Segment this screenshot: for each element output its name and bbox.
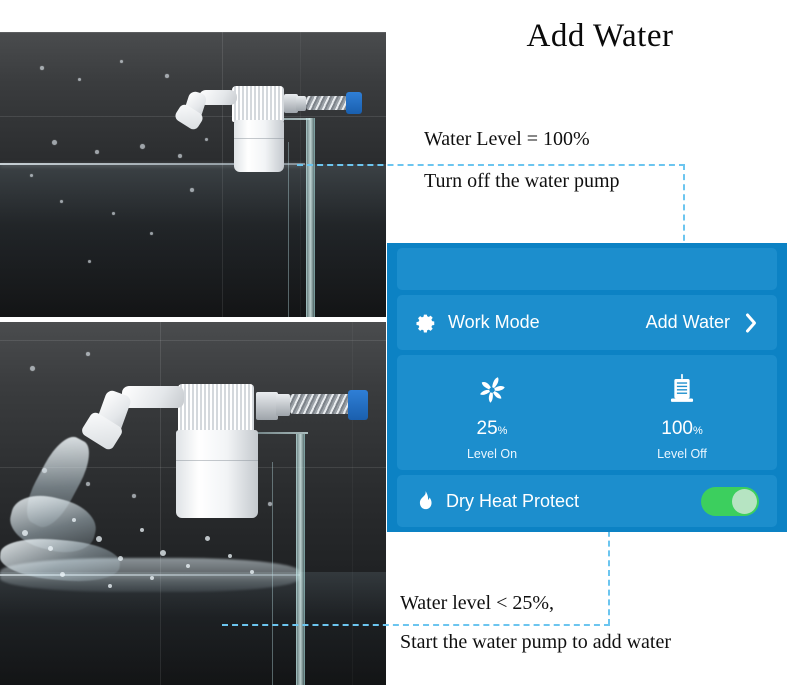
work-mode-row[interactable]: Work Mode Add Water: [397, 295, 777, 350]
gear-icon: [415, 312, 437, 334]
dry-heat-protect-toggle[interactable]: [701, 487, 759, 516]
annotation-start-pump: Start the water pump to add water: [400, 631, 671, 654]
panel-card-blank: [397, 248, 777, 290]
chevron-right-icon[interactable]: [744, 312, 759, 334]
level-on-setting[interactable]: 25% Level On: [397, 355, 587, 470]
photo-tank-filling: [0, 322, 386, 685]
dry-heat-protect-label: Dry Heat Protect: [446, 491, 579, 512]
page-title: Add Water: [420, 18, 780, 55]
work-mode-value: Add Water: [646, 312, 730, 333]
dry-heat-protect-row[interactable]: Dry Heat Protect: [397, 475, 777, 527]
annotation-water-level-100: Water Level = 100%: [424, 128, 590, 151]
level-on-value: 25: [477, 418, 498, 439]
page-root: Add Water Water Level = 100% Turn off th…: [0, 0, 800, 700]
level-on-unit: %: [498, 425, 508, 437]
level-on-caption: Level On: [467, 447, 517, 461]
level-on-value-group: 25%: [477, 418, 508, 440]
annotation-turn-off-pump: Turn off the water pump: [424, 170, 620, 193]
photo-tank-full: [0, 32, 386, 317]
level-off-value: 100: [661, 418, 693, 439]
impeller-fan-icon: [475, 370, 509, 410]
connector-top-horizontal: [297, 164, 685, 166]
app-control-panel: Work Mode Add Water: [387, 243, 787, 532]
work-mode-label: Work Mode: [448, 312, 540, 333]
level-off-unit: %: [693, 425, 703, 437]
water-level-sensor-icon: [665, 370, 699, 410]
connector-bottom-horizontal-lower: [222, 624, 610, 626]
level-off-caption: Level Off: [657, 447, 707, 461]
level-off-value-group: 100%: [661, 418, 702, 440]
flame-icon: [415, 490, 435, 512]
annotation-water-level-below-25: Water level < 25%,: [400, 592, 554, 615]
level-off-setting[interactable]: 100% Level Off: [587, 355, 777, 470]
water-level-settings-card: 25% Level On: [397, 355, 777, 470]
toggle-knob: [732, 489, 757, 514]
